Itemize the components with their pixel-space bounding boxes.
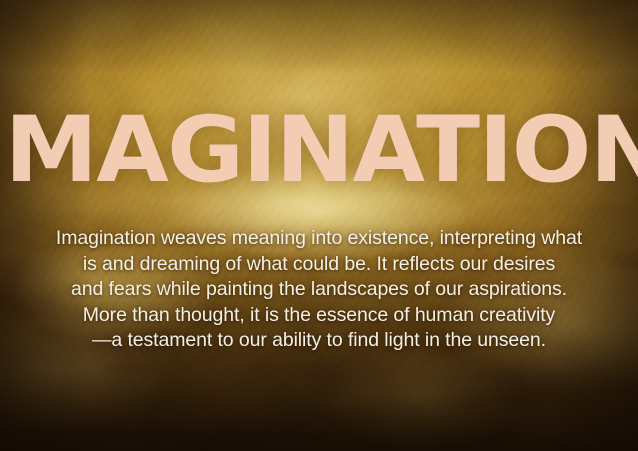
poster-canvas: IMAGINATION Imagination weaves meaning i…: [0, 0, 638, 451]
poster-content: IMAGINATION Imagination weaves meaning i…: [0, 0, 638, 451]
body-line: is and dreaming of what could be. It ref…: [26, 252, 612, 278]
poster-body-copy: Imagination weaves meaning into existenc…: [0, 226, 638, 354]
body-line: and fears while painting the landscapes …: [26, 277, 612, 303]
poster-headline: IMAGINATION: [0, 112, 638, 190]
body-line: —a testament to our ability to find ligh…: [26, 328, 612, 354]
body-line: More than thought, it is the essence of …: [26, 303, 612, 329]
body-line: Imagination weaves meaning into existenc…: [26, 226, 612, 252]
